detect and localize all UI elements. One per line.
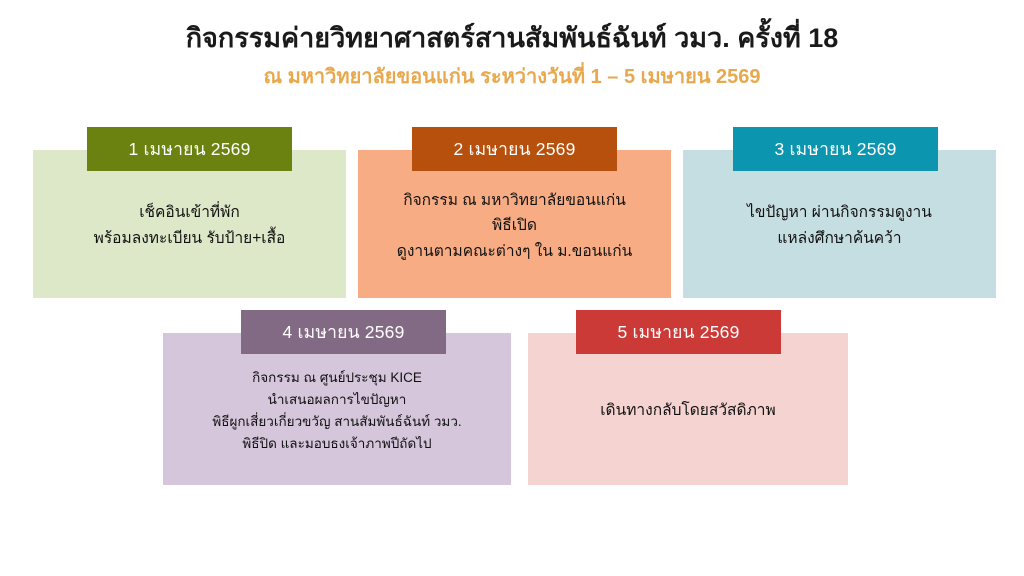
card-body-day-5: เดินทางกลับโดยสวัสดิภาพ [528,333,848,485]
card-date-label-day-2: 2 เมษายน 2569 [453,135,575,163]
card-date-label-day-1: 1 เมษายน 2569 [128,135,250,163]
card-text-day-3: ไขปัญหา ผ่านกิจกรรมดูงาน แหล่งศึกษาค้นคว… [747,200,932,251]
card-header-day-3: 3 เมษายน 2569 [733,127,938,171]
card-text-day-4: กิจกรรม ณ ศูนย์ประชุม KICE นำเสนอผลการไข… [212,367,461,454]
card-date-label-day-5: 5 เมษายน 2569 [617,318,739,346]
page-subtitle: ณ มหาวิทยาลัยขอนแก่น ระหว่างวันที่ 1 – 5… [0,64,1024,90]
card-body-day-4: กิจกรรม ณ ศูนย์ประชุม KICE นำเสนอผลการไข… [163,333,511,485]
card-body-day-3: ไขปัญหา ผ่านกิจกรรมดูงาน แหล่งศึกษาค้นคว… [683,150,996,298]
card-date-label-day-4: 4 เมษายน 2569 [282,318,404,346]
card-body-day-2: กิจกรรม ณ มหาวิทยาลัยขอนแก่น พิธีเปิด ดู… [358,150,671,298]
card-text-day-1: เช็คอินเข้าที่พัก พร้อมลงทะเบียน รับป้าย… [94,200,286,251]
card-text-day-2: กิจกรรม ณ มหาวิทยาลัยขอนแก่น พิธีเปิด ดู… [397,188,632,265]
card-header-day-1: 1 เมษายน 2569 [87,127,292,171]
page-title: กิจกรรมค่ายวิทยาศาสตร์สานสัมพันธ์ฉันท์ ว… [0,22,1024,56]
card-date-label-day-3: 3 เมษายน 2569 [774,135,896,163]
card-header-day-5: 5 เมษายน 2569 [576,310,781,354]
card-body-day-1: เช็คอินเข้าที่พัก พร้อมลงทะเบียน รับป้าย… [33,150,346,298]
slide-canvas: กิจกรรมค่ายวิทยาศาสตร์สานสัมพันธ์ฉันท์ ว… [0,0,1024,576]
title-block: กิจกรรมค่ายวิทยาศาสตร์สานสัมพันธ์ฉันท์ ว… [0,22,1024,90]
card-text-day-5: เดินทางกลับโดยสวัสดิภาพ [600,398,775,424]
card-header-day-4: 4 เมษายน 2569 [241,310,446,354]
card-header-day-2: 2 เมษายน 2569 [412,127,617,171]
